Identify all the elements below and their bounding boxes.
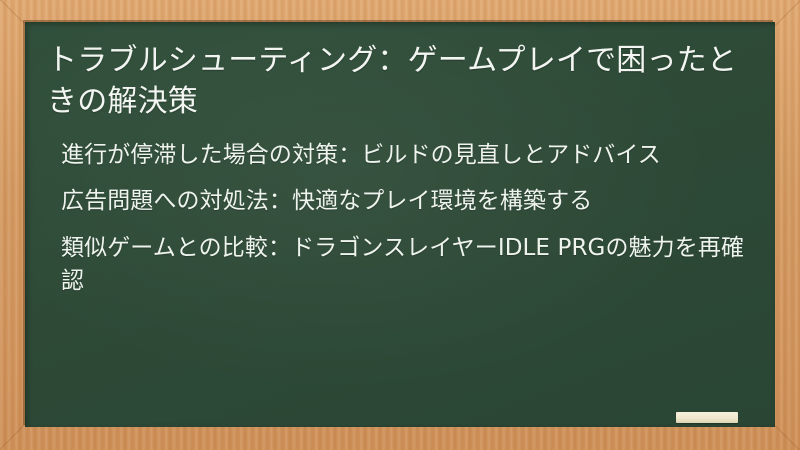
list-item[interactable]: 広告問題への対処法：快適なプレイ環境を構築する (61, 185, 749, 218)
list-item[interactable]: 進行が停滞した場合の対策：ビルドの見直しとアドバイス (61, 139, 749, 172)
topic-list: 進行が停滞した場合の対策：ビルドの見直しとアドバイス 広告問題への対処法：快適な… (43, 139, 755, 298)
page-title: トラブルシューティング：ゲームプレイで困ったときの解決策 (43, 32, 755, 123)
list-item[interactable]: 類似ゲームとの比較：ドラゴンスレイヤーIDLE PRGの魅力を再確認 (61, 232, 749, 297)
blackboard-frame: トラブルシューティング：ゲームプレイで困ったときの解決策 進行が停滞した場合の対… (0, 0, 800, 450)
chalk-stick-icon (676, 412, 738, 423)
chalkboard-surface: トラブルシューティング：ゲームプレイで困ったときの解決策 進行が停滞した場合の対… (25, 22, 775, 427)
